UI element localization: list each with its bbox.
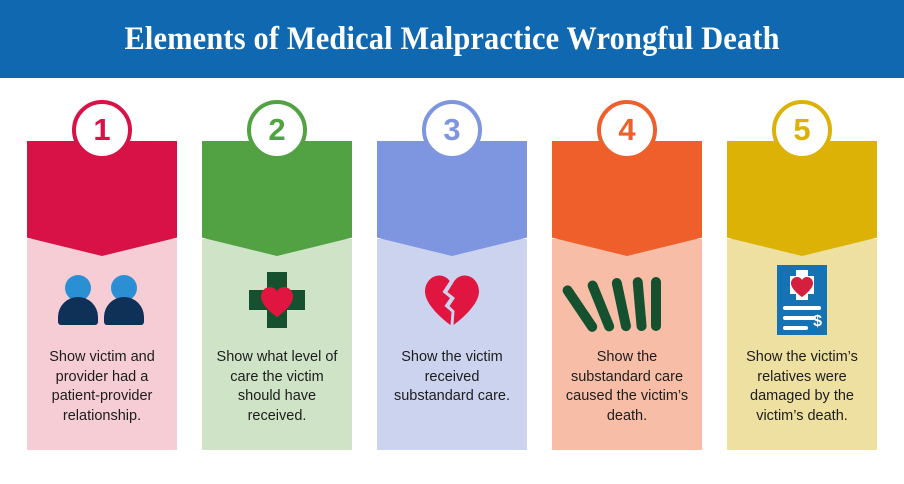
step-description-3: Show the victim received substandard car… xyxy=(383,348,521,407)
step-description-2: Show what level of care the victim shoul… xyxy=(208,348,346,427)
step-description-5: Show the victim’s relatives were damaged… xyxy=(733,348,871,427)
bill-line-1 xyxy=(783,306,821,310)
page-title: Elements of Medical Malpractice Wrongful… xyxy=(124,21,779,58)
step-number-3: 3 xyxy=(443,114,460,145)
bill-line-3 xyxy=(783,326,808,330)
step-column-2: 2 APPLICABLE STANDARD OF CARE Show what … xyxy=(202,100,352,452)
falling-bars-icon xyxy=(588,271,666,329)
title-bar: Elements of Medical Malpractice Wrongful… xyxy=(0,0,904,78)
step-number-2: 2 xyxy=(268,114,285,145)
step-icon-4 xyxy=(552,252,702,347)
steps-container: 1 PATIENT-PROVIDER RELATIONSHIP Show vi xyxy=(27,100,877,452)
person-right-icon xyxy=(104,275,144,325)
step-column-1: 1 PATIENT-PROVIDER RELATIONSHIP Show vi xyxy=(27,100,177,452)
heart-icon xyxy=(260,286,294,318)
step-icon-1 xyxy=(27,252,177,347)
person-left-icon xyxy=(58,275,98,325)
step-number-5: 5 xyxy=(793,114,810,145)
bar-5 xyxy=(651,277,661,331)
medical-bill-icon: $ xyxy=(777,265,827,335)
bill-heart-icon xyxy=(790,276,814,298)
step-description-1: Show victim and provider had a patient-p… xyxy=(33,348,171,427)
step-number-badge-2: 2 xyxy=(247,100,307,160)
bar-3 xyxy=(611,277,632,332)
step-icon-2 xyxy=(202,252,352,347)
infographic-root: Elements of Medical Malpractice Wrongful… xyxy=(0,0,904,484)
person-body xyxy=(104,297,144,325)
step-number-badge-1: 1 xyxy=(72,100,132,160)
step-column-5: 5 VICTIM’S RELATIVES DAMAGED $ Show xyxy=(727,100,877,452)
person-body xyxy=(58,297,98,325)
step-number-badge-4: 4 xyxy=(597,100,657,160)
step-icon-5: $ xyxy=(727,252,877,347)
step-number-4: 4 xyxy=(618,114,635,145)
step-column-3: 3 BREACH OF STANDARD OF CARE Show the vi… xyxy=(377,100,527,452)
step-column-4: 4 SUBSTANDARD CARE CAUSED DEATH Show the… xyxy=(552,100,702,452)
step-description-4: Show the substandard care caused the vic… xyxy=(558,348,696,427)
step-icon-3 xyxy=(377,252,527,347)
bill-line-2 xyxy=(783,316,815,320)
broken-heart-icon xyxy=(424,274,480,326)
bar-4 xyxy=(632,276,647,331)
step-number-badge-3: 3 xyxy=(422,100,482,160)
dollar-sign-icon: $ xyxy=(813,314,822,330)
step-number-1: 1 xyxy=(93,114,110,145)
two-people-icon xyxy=(58,275,146,325)
medical-cross-heart-icon xyxy=(249,272,305,328)
step-number-badge-5: 5 xyxy=(772,100,832,160)
